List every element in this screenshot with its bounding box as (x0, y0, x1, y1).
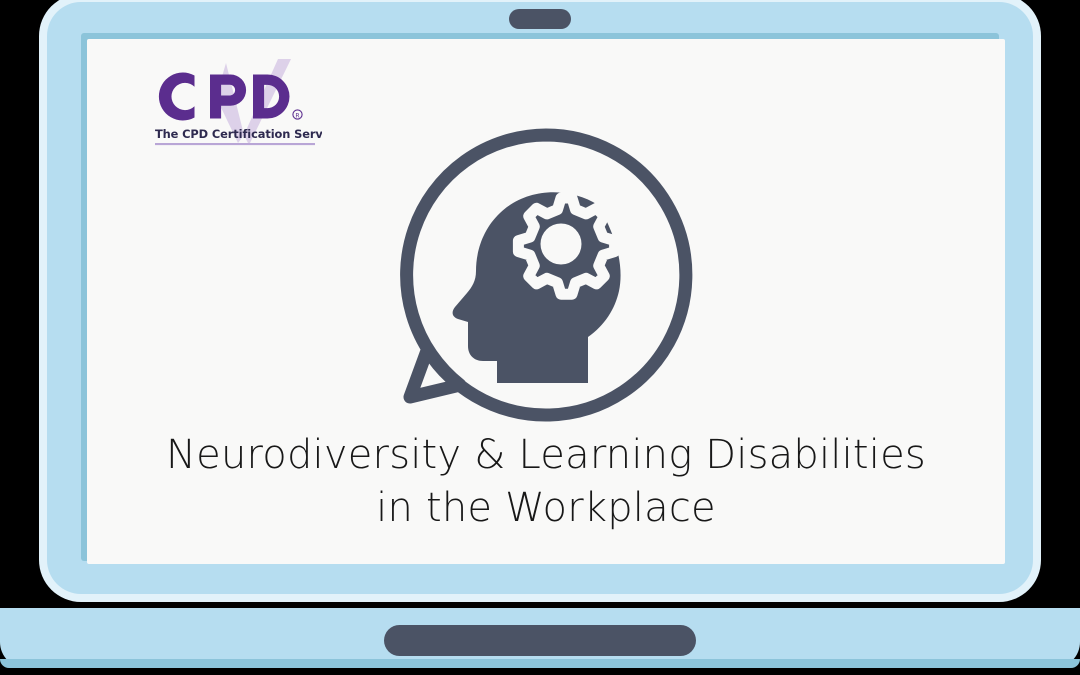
svg-text:R: R (295, 112, 299, 119)
cpd-logo: R The CPD Certification Service (152, 57, 322, 162)
cpd-underline (155, 143, 315, 145)
page-title-line-2: in the Workplace (115, 482, 977, 535)
laptop-base-foot (0, 659, 1080, 668)
page-title-line-1: Neurodiversity & Learning Disabilities (115, 429, 977, 482)
laptop-base (0, 608, 1080, 668)
registered-mark-icon: R (293, 110, 302, 120)
laptop-lid: R The CPD Certification Service (47, 2, 1033, 594)
trackpad[interactable] (384, 625, 696, 656)
speech-bubble-head-gear-icon (398, 127, 694, 423)
camera-icon (509, 9, 571, 29)
cpd-tagline: The CPD Certification Service (155, 127, 322, 141)
slide-stage: R The CPD Certification Service (0, 0, 1080, 675)
laptop-screen: R The CPD Certification Service (87, 39, 1005, 564)
page-title: Neurodiversity & Learning Disabilities i… (87, 429, 1005, 535)
